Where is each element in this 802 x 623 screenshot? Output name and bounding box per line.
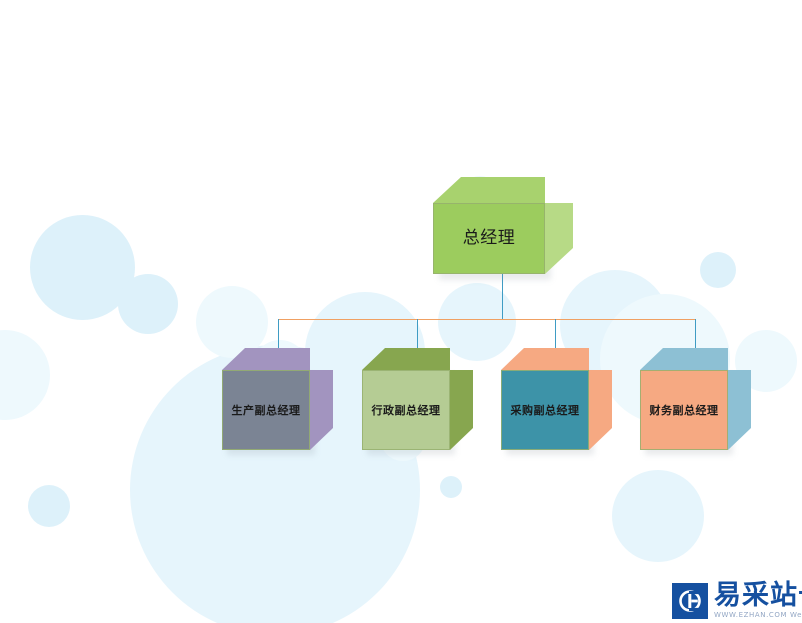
background-bubble (440, 476, 462, 498)
cube-front-face: 行政副总经理 (362, 370, 450, 450)
org-node-root[interactable]: 总经理 (433, 203, 545, 274)
ezhan-logo-icon (672, 583, 708, 619)
cube-top-face (640, 348, 728, 370)
cube-side-face (589, 370, 612, 450)
background-bubble (0, 330, 50, 420)
org-node-child2-label: 行政副总经理 (372, 405, 441, 416)
watermark-text: 易采站长站 WWW.EZHAN.COM Webmaster (714, 582, 802, 619)
cube-side-face (310, 370, 333, 450)
cube-front-face: 生产副总经理 (222, 370, 310, 450)
cube-top-face (362, 348, 450, 370)
background-bubble (30, 215, 135, 320)
connector-horizontal-bus (278, 319, 696, 320)
cube-front-face: 财务副总经理 (640, 370, 728, 450)
org-node-child1[interactable]: 生产副总经理 (222, 370, 310, 450)
org-node-child2[interactable]: 行政副总经理 (362, 370, 450, 450)
cube-top-face (433, 177, 545, 203)
org-node-child4-label: 财务副总经理 (650, 405, 719, 416)
org-node-child3-label: 采购副总经理 (511, 405, 580, 416)
org-node-root-label: 总经理 (463, 230, 516, 247)
cube-front-face: 总经理 (433, 203, 545, 274)
cube-side-face (545, 203, 573, 274)
org-node-child4[interactable]: 财务副总经理 (640, 370, 728, 450)
background-bubble (118, 274, 178, 334)
background-bubble (28, 485, 70, 527)
cube-front-face: 采购副总经理 (501, 370, 589, 450)
cube-side-face (728, 370, 751, 450)
background-bubble (612, 470, 704, 562)
watermark-title: 易采站长站 (714, 582, 802, 609)
org-node-child1-label: 生产副总经理 (232, 405, 301, 416)
org-node-child3[interactable]: 采购副总经理 (501, 370, 589, 450)
watermark: 易采站长站 WWW.EZHAN.COM Webmaster (672, 582, 802, 619)
cube-top-face (501, 348, 589, 370)
background-bubble (700, 252, 736, 288)
cube-side-face (450, 370, 473, 450)
cube-top-face (222, 348, 310, 370)
slide-canvas: 总经理 生产副总经理 行政副总经理 采购副总经理 财务副总经理 (0, 0, 802, 623)
background-bubble (196, 286, 268, 358)
watermark-subtitle: WWW.EZHAN.COM Webmaster (714, 612, 802, 619)
